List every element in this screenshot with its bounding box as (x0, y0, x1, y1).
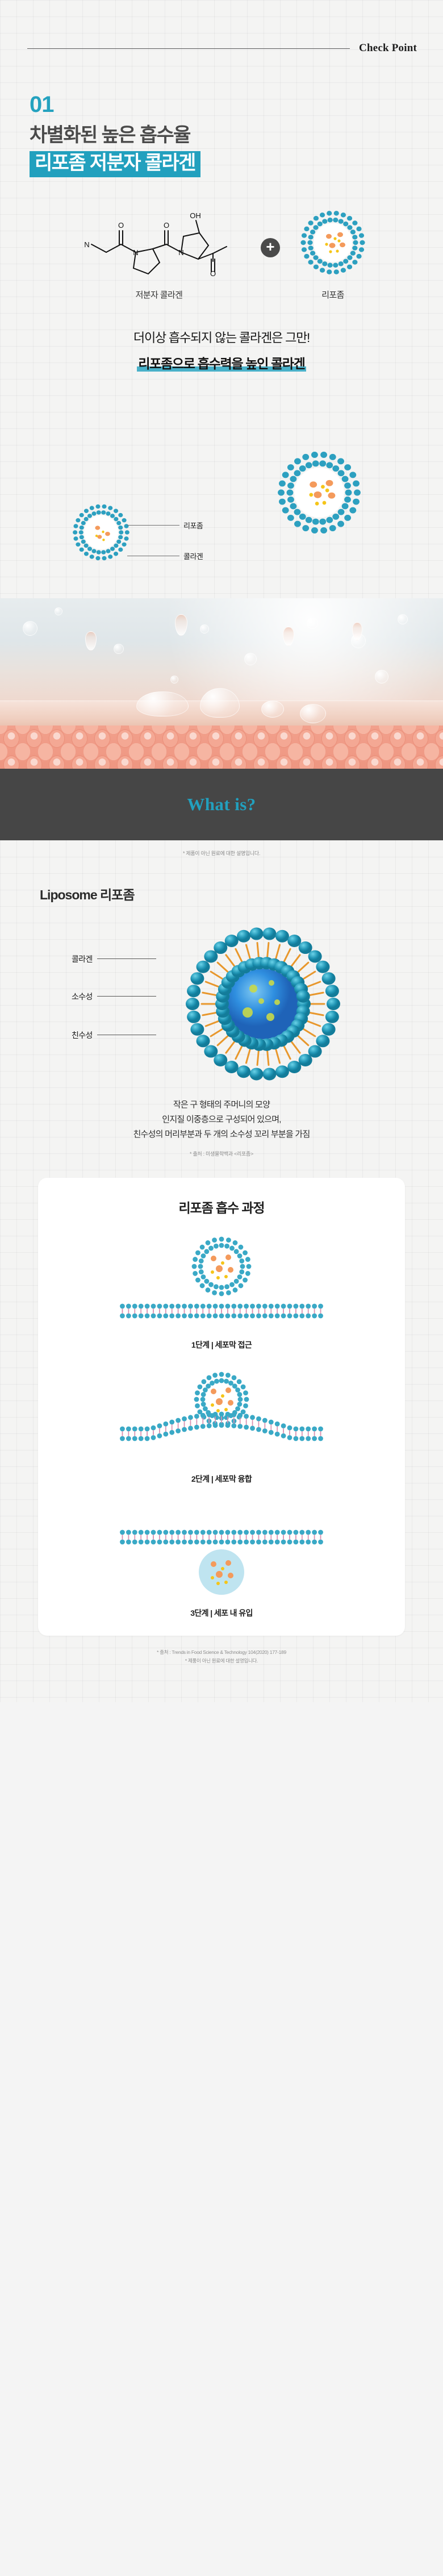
step-3-illustration (85, 1499, 358, 1599)
bottom-spacer (0, 1679, 443, 1697)
skin-cell-layer (0, 726, 443, 769)
atom-label-o2: O (164, 221, 169, 230)
absorption-card-title: 리포좀 흡수 과정 (38, 1197, 405, 1216)
description-line-2: 인지질 이중층으로 구성되어 있으며, (0, 1112, 443, 1127)
callout-collagen: 콜라겐 (127, 551, 203, 561)
atom-label-n2: N (133, 248, 138, 257)
collagen-molecule-icon: N O N O N OH O (77, 209, 241, 276)
atom-label-o1: O (118, 221, 124, 230)
liposome-3d-render (181, 922, 345, 1089)
anatomy-leader-line (97, 996, 156, 997)
absorption-footnotes: * 출처 : Trends in Food Science & Technolo… (0, 1648, 443, 1679)
description-line-1: 작은 구 형태의 주머니의 모양 (0, 1098, 443, 1112)
page-title: 차별화된 높은 흡수율 (30, 124, 443, 147)
infographic-page: Check Point 01 차별화된 높은 흡수율 리포좀 저분자 콜라겐 (0, 0, 443, 1702)
section-liposome-detail: * 제품이 아닌 원료에 대한 설명입니다. Liposome 리포좀 (0, 840, 443, 1703)
atom-label-n: N (84, 240, 89, 249)
bubble (114, 644, 124, 654)
claim-block: 더이상 흡수되지 않는 콜라겐은 그만! 리포좀으로 흡수력을 높인 콜라겐 (0, 328, 443, 372)
check-point-header: Check Point (0, 0, 443, 55)
liposome-small (72, 503, 131, 565)
plus-icon: + (261, 238, 280, 257)
bubble (398, 614, 408, 624)
absorption-step-1: 1단계 | 세포막 접근 (38, 1231, 405, 1350)
atom-label-n3: N (178, 248, 183, 257)
claim-line-2-wrapper: 리포좀으로 흡수력을 높인 콜라겐 (137, 353, 306, 372)
anatomy-hydrophobic-text: 소수성 (72, 991, 93, 1002)
what-is-note: * 제품이 아닌 원료에 대한 설명입니다. (0, 840, 443, 857)
liposome-anatomy-diagram: 콜라겐 소수성 친수성 (0, 918, 443, 1094)
bubble (23, 621, 37, 636)
section-intro: Check Point 01 차별화된 높은 흡수율 리포좀 저분자 콜라겐 (0, 0, 443, 598)
step-3-label: 3단계 | 세포 내 유입 (190, 1607, 253, 1619)
anatomy-label-hydrophilic: 친수성 (72, 1029, 156, 1041)
title-highlight-badge: 리포좀 저분자 콜라겐 (30, 151, 200, 177)
footnote-disclaimer: * 제품이 아닌 원료에 대한 설명입니다. (0, 1657, 443, 1665)
callout-liposome: 리포좀 (127, 520, 203, 531)
anatomy-label-hydrophobic: 소수성 (72, 991, 156, 1002)
atom-label-oh: OH (190, 211, 201, 220)
claim-line-1: 더이상 흡수되지 않는 콜라겐은 그만! (0, 328, 443, 346)
absorption-step-3: 3단계 | 세포 내 유입 (38, 1499, 405, 1619)
liposome-scene: 리포좀 콜라겐 (0, 397, 443, 590)
section-number: 01 (30, 93, 443, 116)
anatomy-collagen-text: 콜라겐 (72, 953, 93, 965)
liposome-source-note: * 출처 : 미생물학백과 <리포좀> (0, 1150, 443, 1157)
ingredient-liposome: 리포좀 (299, 209, 366, 301)
callout-line (127, 556, 179, 556)
bubble (200, 624, 209, 633)
large-droplet (261, 701, 284, 718)
header-divider-line (27, 48, 350, 49)
ingredient-formula-row: N O N O N OH O 저분자 콜라겐 + (0, 209, 443, 301)
anatomy-leader-line (97, 958, 156, 959)
ingredient-collagen-label: 저분자 콜라겐 (136, 289, 183, 301)
water-layer (0, 598, 443, 701)
claim-line-2: 리포좀으로 흡수력을 높인 콜라겐 (137, 353, 306, 372)
skin-cross-section-image (0, 598, 443, 769)
bubble (307, 618, 318, 629)
liposome-description: 작은 구 형태의 주머니의 모양 인지질 이중층으로 구성되어 있으며, 친수성… (0, 1098, 443, 1143)
anatomy-label-collagen: 콜라겐 (72, 953, 156, 965)
anatomy-hydrophilic-text: 친수성 (72, 1029, 93, 1041)
bubble (244, 653, 257, 665)
ingredient-collagen: N O N O N OH O 저분자 콜라겐 (77, 209, 241, 301)
callout-line (127, 525, 179, 526)
large-droplet (300, 704, 326, 723)
step-1-label: 1단계 | 세포막 접근 (191, 1339, 252, 1350)
bubble (375, 670, 388, 683)
description-line-3: 친수성의 머리부분과 두 개의 소수성 꼬리 부분을 가짐 (0, 1127, 443, 1142)
step-2-illustration (85, 1365, 358, 1465)
footnote-source: * 출처 : Trends in Food Science & Technolo… (0, 1648, 443, 1656)
bubble (170, 676, 178, 683)
ingredient-liposome-label: 리포좀 (321, 289, 344, 301)
step-2-label: 2단계 | 세포막 융합 (191, 1473, 252, 1485)
check-point-label: Check Point (359, 42, 417, 55)
callout-collagen-label: 콜라겐 (183, 551, 203, 561)
liposome-icon (299, 209, 366, 276)
liposome-anatomy-title: Liposome 리포좀 (40, 884, 443, 903)
what-is-heading: What is? (187, 794, 256, 815)
absorption-step-2: 2단계 | 세포막 융합 (38, 1365, 405, 1485)
liposome-large (276, 449, 362, 539)
step-1-illustration (85, 1231, 358, 1331)
absorption-process-card: 리포좀 흡수 과정 1단계 | 세포막 접근 (38, 1178, 405, 1636)
what-is-section: What is? (0, 769, 443, 840)
callout-liposome-label: 리포좀 (183, 520, 203, 531)
atom-label-o3: O (210, 269, 216, 276)
bubble (55, 607, 62, 615)
plus-symbol: + (266, 239, 274, 254)
anatomy-leader-line (97, 1035, 156, 1035)
